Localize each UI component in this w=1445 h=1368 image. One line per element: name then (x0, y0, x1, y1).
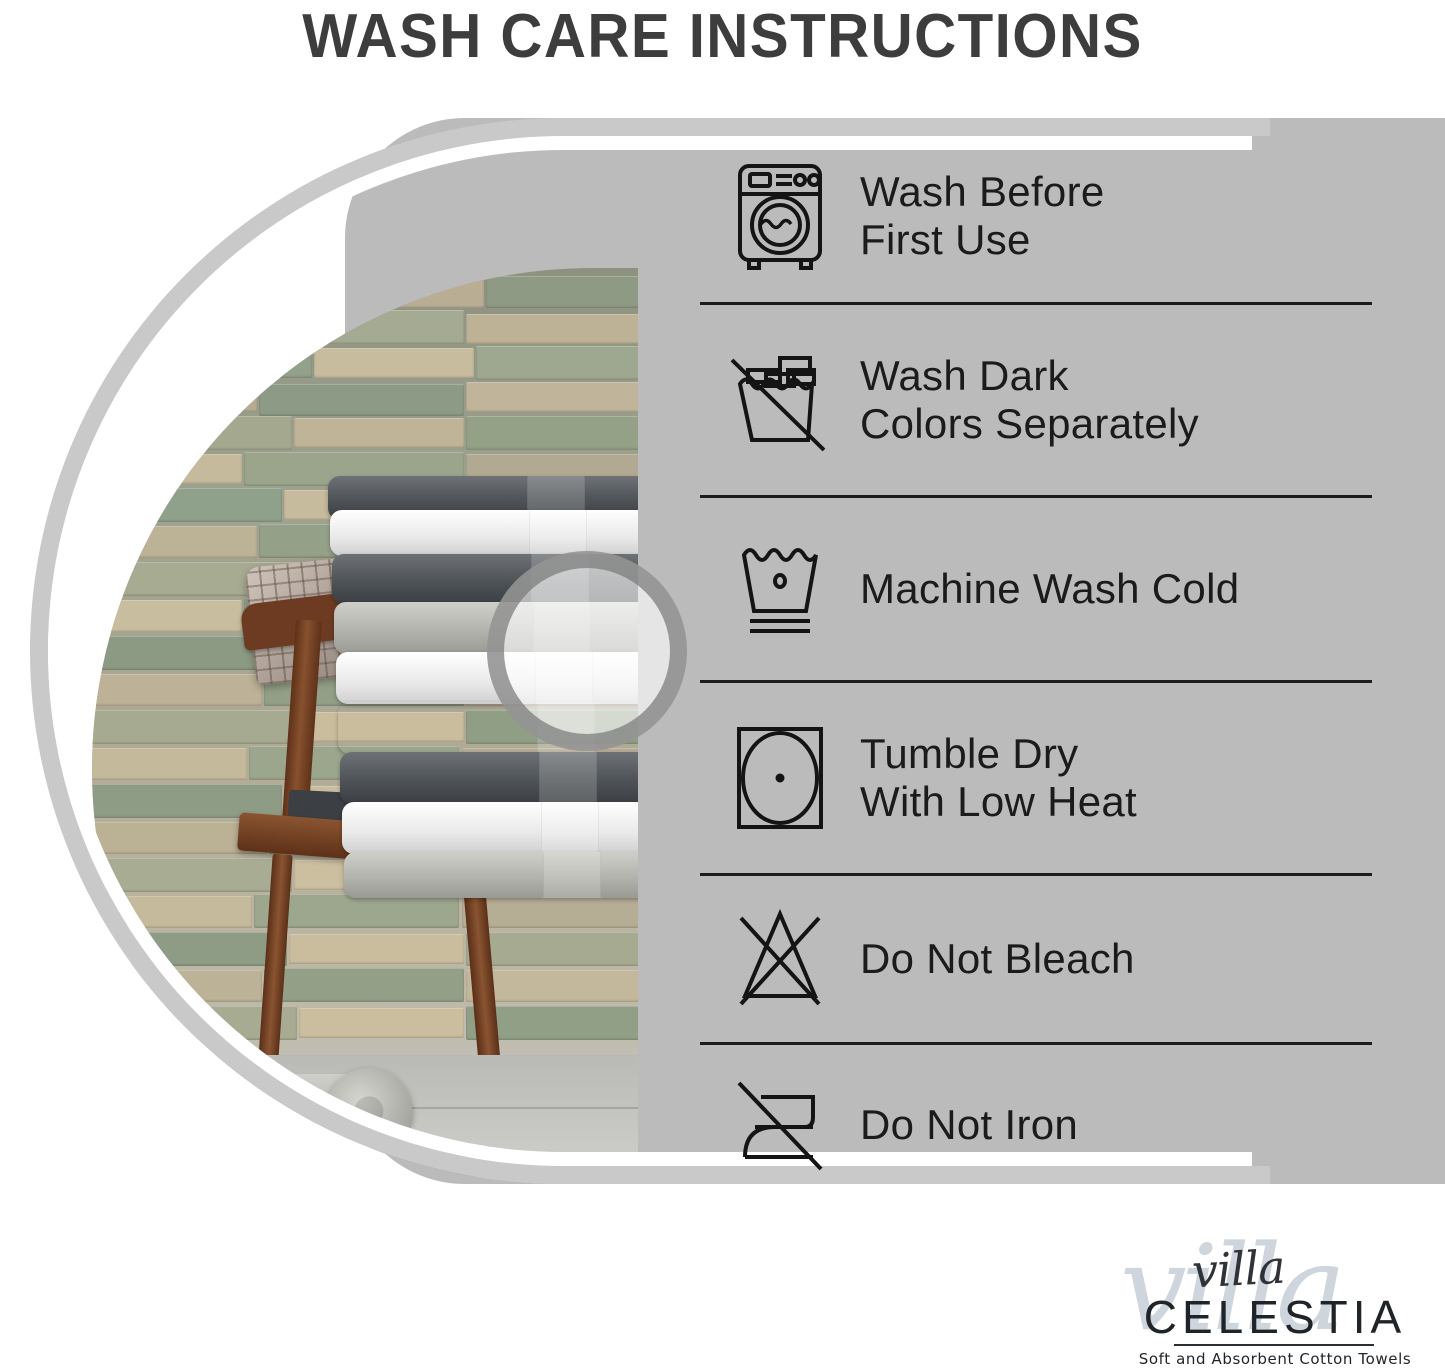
instruction-row-do-not-iron: Do Not Iron (700, 1042, 1372, 1205)
brand-logo: villa villa CELESTIA Soft and Absorbent … (1120, 1228, 1430, 1367)
instruction-row-machine-wash-cold: Machine Wash Cold (700, 495, 1372, 680)
instruction-label: Machine Wash Cold (860, 565, 1239, 613)
towel-folded (344, 852, 638, 898)
machine-wash-cold-icon (700, 537, 860, 641)
instruction-list: Wash Before First Use Wash Dark Colors S… (700, 130, 1372, 1170)
logo-brand-name: CELESTIA (1128, 1290, 1422, 1344)
instruction-label: Do Not Bleach (860, 935, 1135, 983)
logo-underline (1174, 1344, 1374, 1346)
washing-machine-icon (700, 160, 860, 272)
instruction-row-do-not-bleach: Do Not Bleach (700, 873, 1372, 1042)
page-title: WASH CARE INSTRUCTIONS (43, 0, 1401, 72)
towel-folded (340, 752, 638, 804)
towel-folded (330, 510, 638, 556)
tumble-dry-low-icon (700, 723, 860, 833)
towel-folded (342, 802, 638, 854)
do-not-bleach-icon (700, 904, 860, 1014)
instruction-label: Wash Before First Use (860, 168, 1105, 264)
instruction-label: Wash Dark Colors Separately (860, 352, 1199, 448)
instruction-row-wash-before-first-use: Wash Before First Use (700, 130, 1372, 302)
instruction-label: Do Not Iron (860, 1101, 1078, 1149)
wash-separately-icon (700, 344, 860, 456)
circle-highlight (487, 551, 687, 751)
instruction-row-tumble-dry-low-heat: Tumble Dry With Low Heat (700, 680, 1372, 873)
do-not-iron-icon (700, 1075, 860, 1175)
instruction-row-wash-dark-colors-separately: Wash Dark Colors Separately (700, 302, 1372, 495)
logo-tagline: Soft and Absorbent Cotton Towels (1128, 1350, 1422, 1368)
instruction-label: Tumble Dry With Low Heat (860, 730, 1137, 826)
